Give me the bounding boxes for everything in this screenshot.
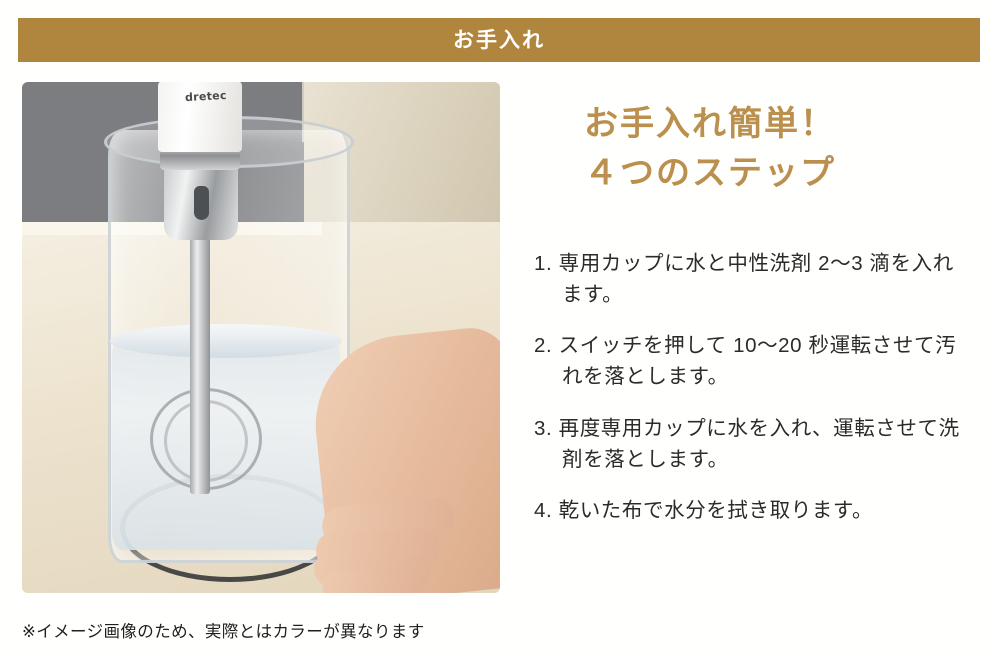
- step-item-4: 4. 乾いた布で水分を拭き取ります。: [534, 495, 970, 526]
- feature-heading-line1: お手入れ簡単！: [584, 100, 836, 149]
- step-item-1: 1. 専用カップに水と中性洗剤 2〜3 滴を入れます。: [534, 248, 970, 310]
- photo-water-surface: [110, 324, 342, 358]
- section-header-title: お手入れ: [453, 30, 545, 51]
- step-item-3: 3. 再度専用カップに水を入れ、運転させて洗剤を落とします。: [534, 413, 970, 475]
- photo-brand-logo: dretec: [185, 89, 227, 104]
- photo-blender-bell-slot: [194, 186, 209, 220]
- feature-heading: お手入れ簡単！ ４つのステップ: [584, 100, 836, 199]
- image-disclaimer-note: ※イメージ画像のため、実際とはカラーが異なります: [22, 618, 425, 642]
- section-header-banner: お手入れ: [18, 18, 980, 62]
- step-item-2: 2. スイッチを押して 10〜20 秒運転させて汚れを落とします。: [534, 330, 970, 392]
- cleaning-steps-list: 1. 専用カップに水と中性洗剤 2〜3 滴を入れます。 2. スイッチを押して …: [534, 248, 970, 526]
- product-photo: dretec: [22, 82, 500, 593]
- photo-blender-shaft: [190, 234, 210, 494]
- feature-heading-line2: ４つのステップ: [584, 149, 836, 198]
